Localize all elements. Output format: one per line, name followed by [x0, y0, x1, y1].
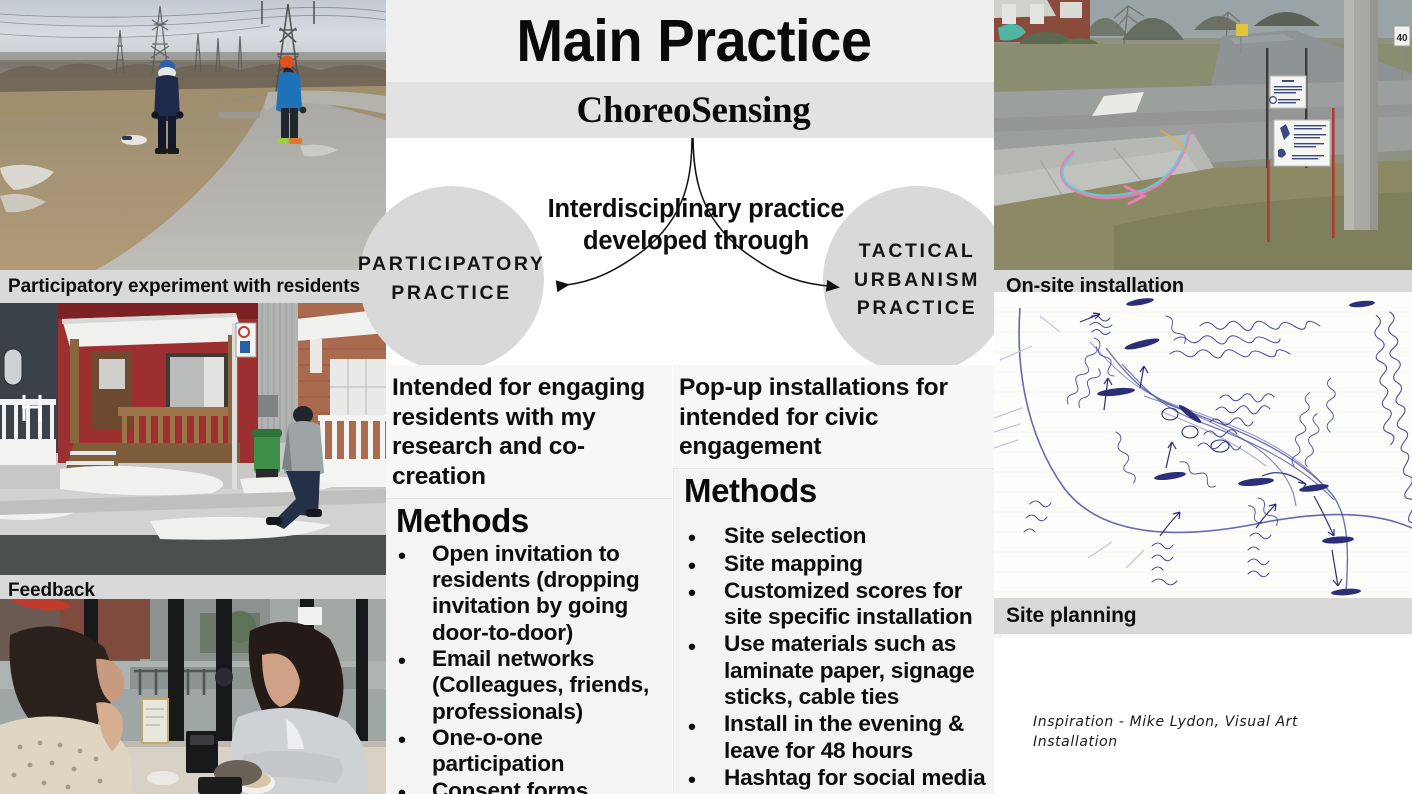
svg-text:40: 40: [1396, 33, 1408, 44]
list-item-label: Site selection: [724, 523, 866, 548]
photo-onsite-installation: 40: [994, 0, 1412, 270]
list-item: •Open invitation to residents (dropping …: [390, 541, 668, 646]
diagram-center-text: Interdisciplinary practice developed thr…: [546, 193, 846, 257]
photo-trail-artwork: [0, 0, 386, 270]
list-item-label: Customized scores for site specific inst…: [724, 578, 972, 629]
slide-root: Participatory experiment with residents: [0, 0, 1412, 794]
bullet-icon: •: [398, 648, 406, 674]
list-item: •Install in the evening & leave for 48 h…: [678, 711, 997, 764]
photo-cafe-interview: [0, 599, 386, 794]
column-participatory: Intended for engaging residents with my …: [386, 365, 672, 794]
page-subtitle: ChoreoSensing: [577, 92, 811, 129]
inspiration-note: Inspiration - Mike Lydon, Visual Art Ins…: [1033, 712, 1333, 753]
list-item: •Site mapping: [678, 551, 997, 577]
column-right-intro: Pop-up installations for intended for ci…: [673, 365, 1001, 468]
bullet-icon: •: [688, 580, 696, 606]
column-right-methods-heading: Methods: [684, 473, 997, 509]
column-right-body: Methods •Site selection •Site mapping •C…: [673, 468, 1001, 794]
list-item-label: Install in the evening & leave for 48 ho…: [724, 711, 964, 762]
list-item-label: Consent forms: [432, 778, 588, 794]
header-main: Main Practice: [386, 0, 1001, 82]
list-item: •Use materials such as laminate paper, s…: [678, 631, 997, 710]
bullet-icon: •: [398, 543, 406, 569]
bullet-icon: •: [688, 553, 696, 579]
photo-install-artwork: 40: [994, 0, 1412, 270]
column-left-body: Methods •Open invitation to residents (d…: [386, 498, 672, 794]
list-item-label: Open invitation to residents (dropping i…: [432, 541, 639, 645]
bullet-icon: •: [688, 525, 696, 551]
page-title: Main Practice: [516, 12, 871, 71]
column-left-methods-list: •Open invitation to residents (dropping …: [390, 541, 668, 794]
bullet-icon: •: [688, 767, 696, 793]
caption-text: Participatory experiment with residents: [8, 276, 360, 298]
list-item: •Email networks (Colleagues, friends, pr…: [390, 646, 668, 725]
list-item: •Consent forms: [390, 778, 668, 794]
column-tactical: Pop-up installations for intended for ci…: [673, 365, 1001, 794]
photo-participatory-trail: [0, 0, 386, 270]
photo-street-artwork: [0, 303, 386, 575]
header-sub: ChoreoSensing: [386, 82, 1001, 138]
photo-feedback-street: [0, 303, 386, 575]
list-item: •Customized scores for site specific ins…: [678, 578, 997, 631]
diagram-interdisciplinary: PARTICIPATORY PRACTICE TACTICAL URBANISM…: [386, 138, 1001, 370]
list-item: •Hashtag for social media communication: [678, 765, 997, 794]
column-left-intro: Intended for engaging residents with my …: [386, 365, 672, 498]
list-item: •Site selection: [678, 523, 997, 549]
caption-site-planning: Site planning: [994, 598, 1412, 634]
bullet-icon: •: [398, 780, 406, 794]
list-item-label: One-o-one participation: [432, 725, 564, 776]
list-item: •One-o-one participation: [390, 725, 668, 778]
bullet-icon: •: [398, 727, 406, 753]
list-item-label: Hashtag for social media communication: [724, 765, 985, 794]
photo-site-map-sketch: [994, 292, 1412, 598]
bullet-icon: •: [688, 714, 696, 740]
list-item-label: Email networks (Colleagues, friends, pro…: [432, 646, 649, 724]
caption-participatory-experiment: Participatory experiment with residents: [0, 270, 386, 303]
bullet-icon: •: [688, 634, 696, 660]
list-item-label: Use materials such as laminate paper, si…: [724, 631, 974, 709]
photo-sitemap-artwork: [994, 292, 1412, 598]
list-item-label: Site mapping: [724, 551, 863, 576]
column-left-methods-heading: Methods: [396, 503, 668, 539]
caption-text: Site planning: [1006, 604, 1137, 628]
photo-cafe-artwork: [0, 599, 386, 794]
column-right-methods-list: •Site selection •Site mapping •Customize…: [678, 523, 997, 794]
